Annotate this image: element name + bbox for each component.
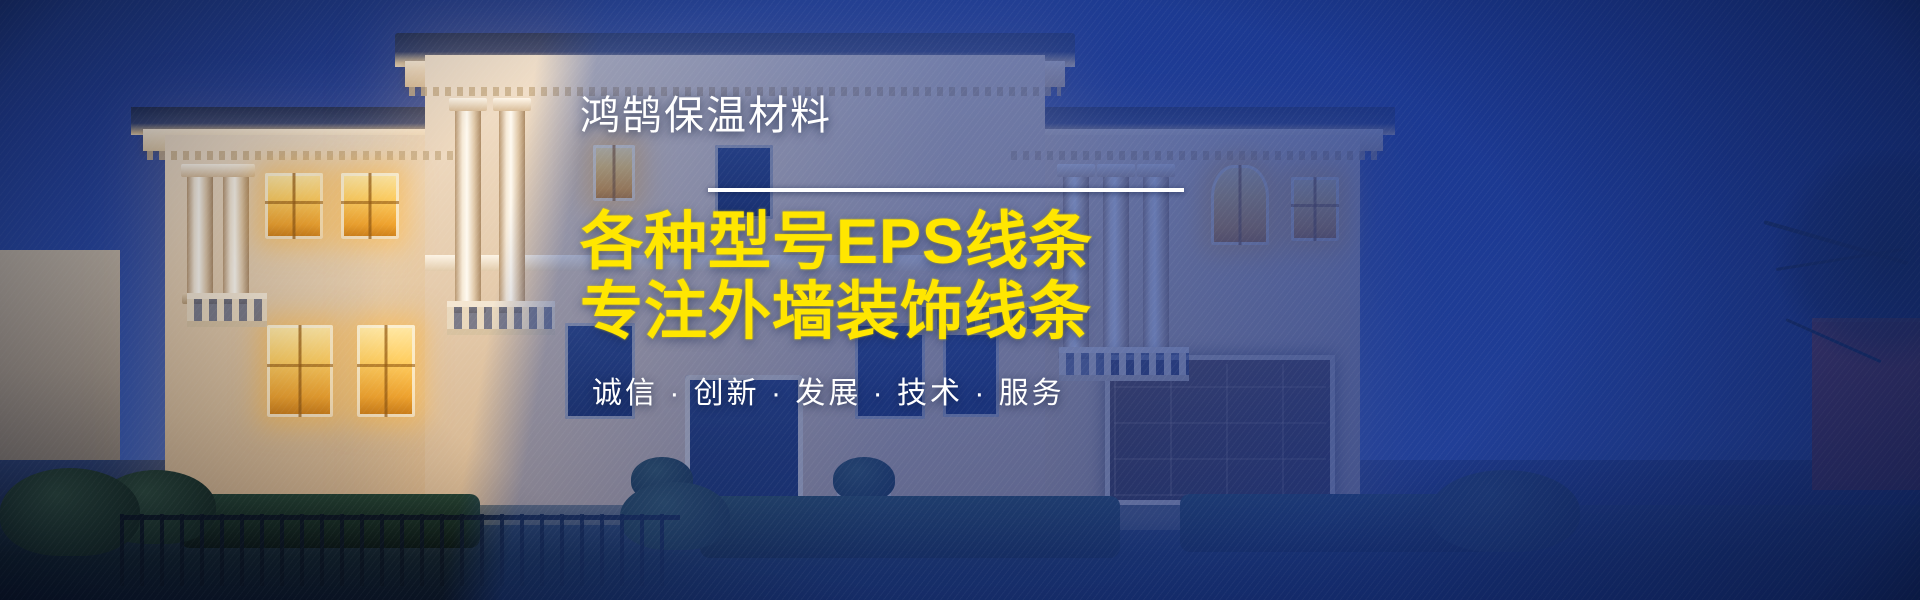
balustrade-center-left — [447, 301, 555, 335]
window-lit-6 — [1291, 177, 1339, 241]
balustrade-left — [187, 293, 267, 327]
tree-branch-2 — [1776, 248, 1903, 271]
tree-branch-3 — [1785, 318, 1881, 363]
hero-banner: 鸿鹄保温材料 各种型号EPS线条 专注外墙装饰线条 诚信 · 创新 · 发展 ·… — [0, 0, 1920, 600]
hedge-2 — [700, 496, 1120, 558]
headline-line-2: 专注外墙装饰线条 — [580, 280, 1280, 344]
divider-rule — [708, 188, 1184, 192]
bush-far-left — [0, 468, 140, 556]
column-left-2 — [223, 175, 249, 295]
column-left-1 — [187, 175, 213, 295]
bush-right — [1430, 470, 1580, 552]
brand-name: 鸿鹄保温材料 — [580, 96, 1280, 136]
column-center-2 — [499, 109, 525, 304]
planter-shrub-right — [833, 457, 895, 501]
dentil-strip-left — [147, 151, 463, 160]
banner-copy: 鸿鹄保温材料 各种型号EPS线条 专注外墙装饰线条 诚信 · 创新 · 发展 ·… — [580, 96, 1280, 409]
tagline: 诚信 · 创新 · 发展 · 技术 · 服务 — [592, 379, 1280, 409]
headline-line-1: 各种型号EPS线条 — [580, 207, 1093, 277]
window-lit-3 — [267, 325, 333, 417]
tree-right — [1690, 150, 1920, 450]
fence-pickets — [120, 514, 680, 586]
window-lit-4 — [357, 325, 415, 417]
window-lit-2 — [341, 173, 399, 239]
headline: 各种型号EPS线条 专注外墙装饰线条 — [580, 210, 1280, 345]
window-lit-1 — [265, 173, 323, 239]
column-center-1 — [455, 109, 481, 304]
